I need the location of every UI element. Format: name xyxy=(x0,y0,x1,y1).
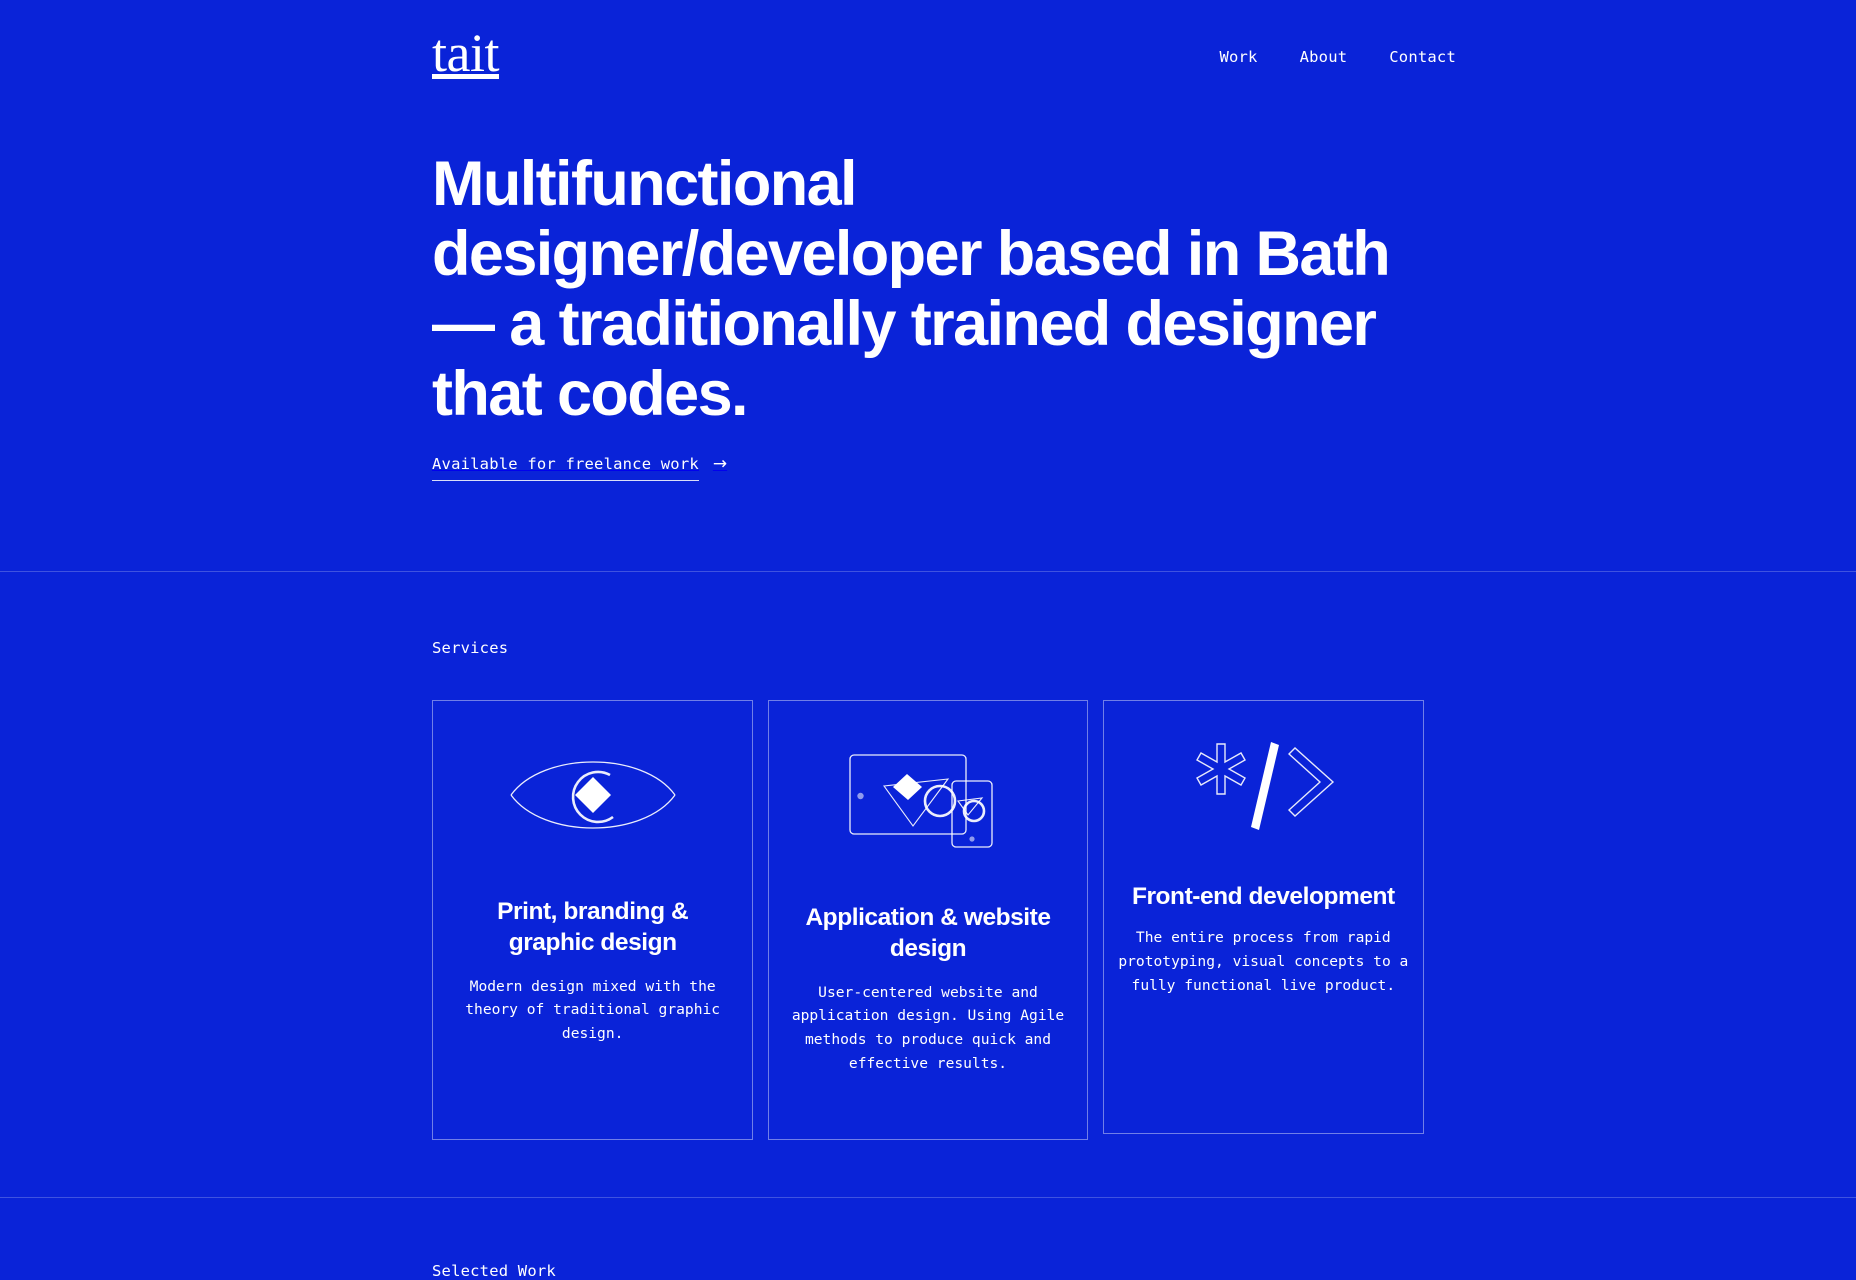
site-header: tait Work About Contact xyxy=(0,0,1856,116)
services-section-label: Services xyxy=(432,639,508,657)
service-card-description: User-centered website and application de… xyxy=(769,981,1086,1076)
section-divider-services xyxy=(0,571,1856,572)
hero-cta-label: Available for freelance work xyxy=(432,455,699,481)
service-card-application-website[interactable]: Application & website design User-center… xyxy=(768,700,1087,1140)
code-slash-icon xyxy=(1104,701,1423,871)
section-divider-work xyxy=(0,1197,1856,1198)
nav-item-contact[interactable]: Contact xyxy=(1389,48,1456,66)
service-card-print-branding[interactable]: Print, branding & graphic design Modern … xyxy=(432,700,753,1140)
service-card-title: Application & website design xyxy=(769,902,1086,965)
page-root: tait Work About Contact Multifunctional … xyxy=(0,0,1856,1280)
hero-headline: Multifunctional designer/developer based… xyxy=(432,150,1402,430)
arrow-right-icon: → xyxy=(713,456,727,480)
devices-shapes-icon xyxy=(769,707,1086,882)
site-logo[interactable]: tait xyxy=(432,26,499,80)
service-card-title: Print, branding & graphic design xyxy=(433,896,752,959)
selected-work-section-label: Selected Work xyxy=(432,1262,556,1280)
service-card-description: The entire process from rapid prototypin… xyxy=(1104,926,1423,997)
nav-item-about[interactable]: About xyxy=(1300,48,1348,66)
service-card-frontend-development[interactable]: Front-end development The entire process… xyxy=(1103,700,1424,1134)
available-for-freelance-work-link[interactable]: Available for freelance work → xyxy=(432,455,727,481)
nav-item-work[interactable]: Work xyxy=(1219,48,1257,66)
main-navigation: Work About Contact xyxy=(1219,48,1456,66)
hero-section: Multifunctional designer/developer based… xyxy=(432,150,1432,430)
services-grid: Print, branding & graphic design Modern … xyxy=(432,700,1424,1140)
service-card-description: Modern design mixed with the theory of t… xyxy=(433,975,752,1046)
service-card-title: Front-end development xyxy=(1108,881,1419,912)
eye-diamond-icon xyxy=(433,707,752,882)
